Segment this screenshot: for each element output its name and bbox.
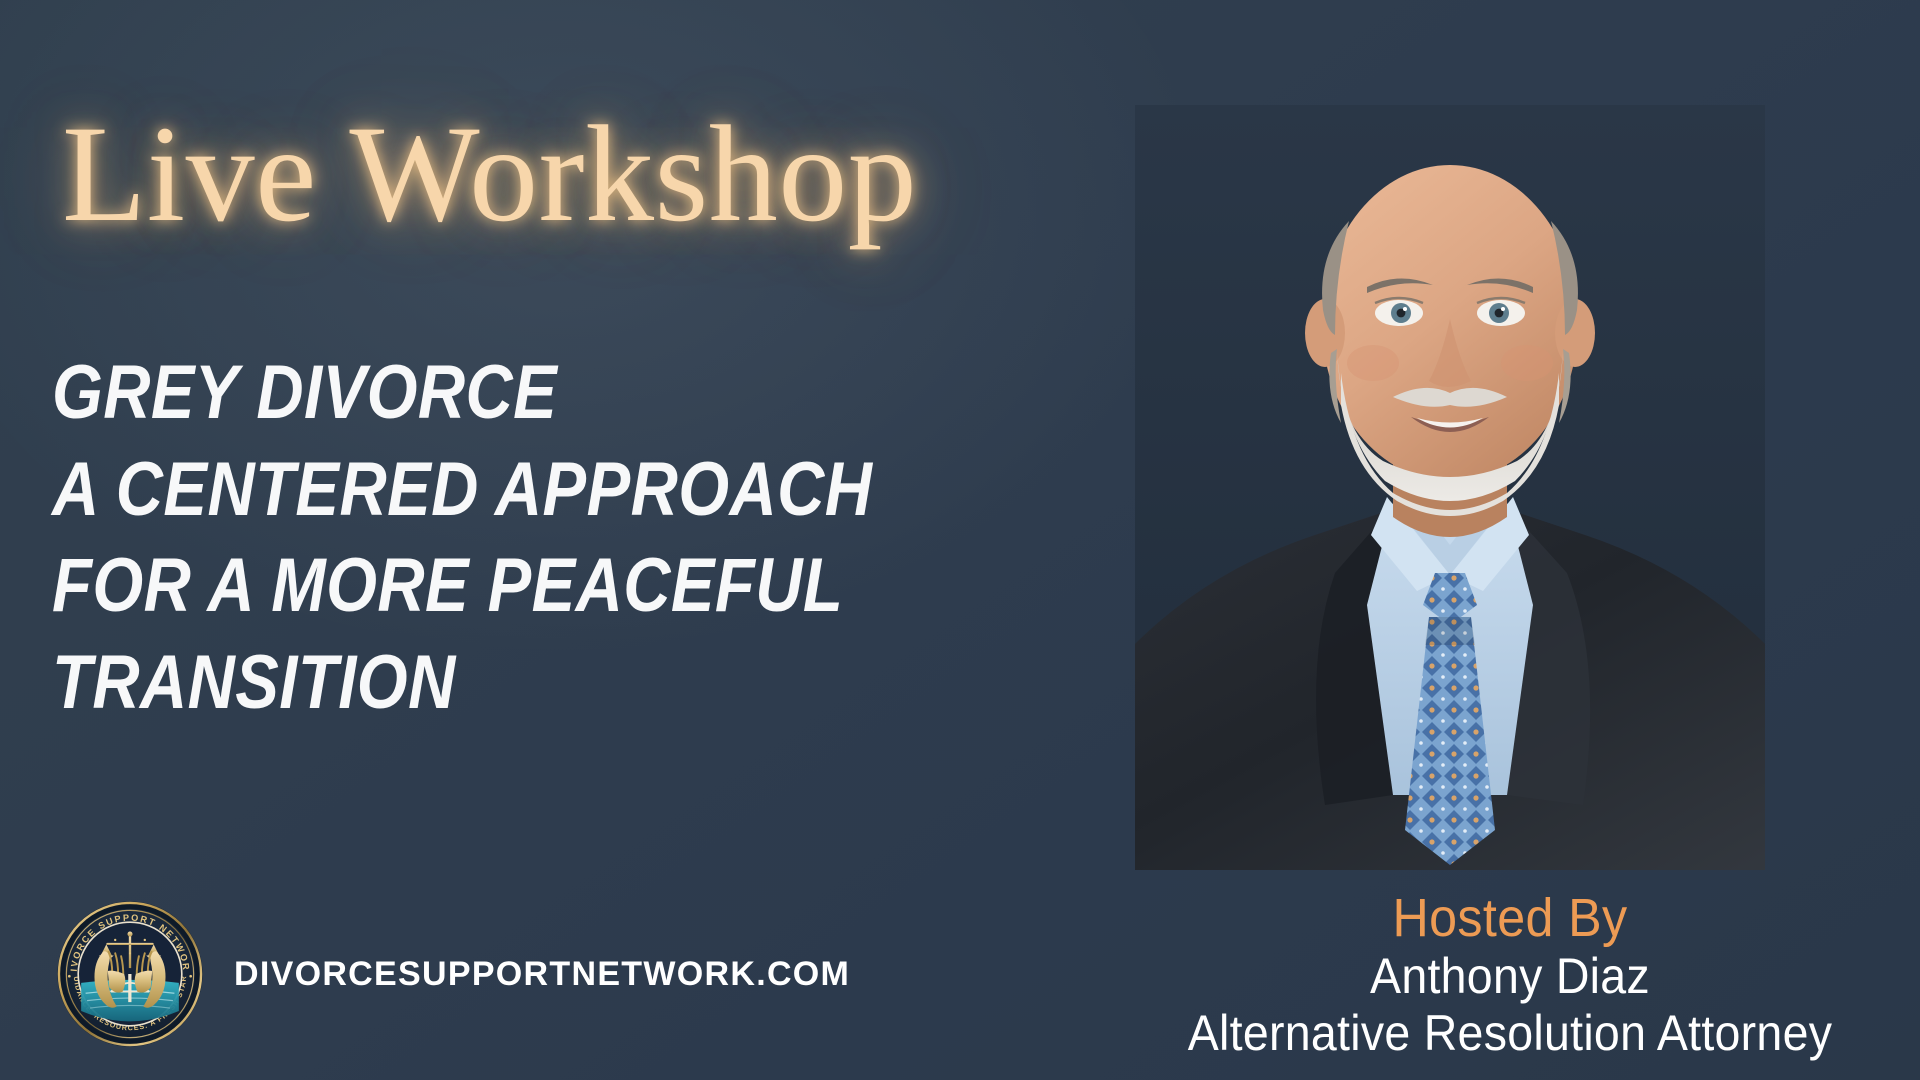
subtitle-line-2: A CENTERED APPROACH [52, 442, 921, 539]
host-info-block: Hosted By Anthony Diaz Alternative Resol… [1100, 888, 1920, 1062]
subtitle-block: GREY DIVORCE A CENTERED APPROACH FOR A M… [52, 345, 1062, 731]
brand-website-url[interactable]: DIVORCESUPPORTNETWORK.COM [234, 955, 850, 994]
hosted-by-label: Hosted By [1129, 888, 1892, 948]
host-name: Anthony Diaz [1129, 948, 1892, 1005]
right-content-column: Hosted By Anthony Diaz Alternative Resol… [1100, 0, 1920, 1080]
divorce-support-network-seal-icon: DIVORCE SUPPORT NETWORK GUIDANCE. RESOUR… [56, 900, 204, 1048]
host-portrait [1135, 105, 1765, 870]
workshop-promo-slide: Live Workshop GREY DIVORCE A CENTERED AP… [0, 0, 1920, 1080]
left-content-column: Live Workshop GREY DIVORCE A CENTERED AP… [0, 0, 1100, 1080]
brand-footer: DIVORCE SUPPORT NETWORK GUIDANCE. RESOUR… [56, 900, 850, 1048]
host-title: Alternative Resolution Attorney [1129, 1005, 1892, 1062]
page-title: Live Workshop [62, 105, 917, 243]
subtitle-line-1: GREY DIVORCE [52, 345, 921, 442]
subtitle-line-4: TRANSITION [52, 635, 921, 732]
subtitle-line-3: FOR A MORE PEACEFUL [52, 538, 921, 635]
